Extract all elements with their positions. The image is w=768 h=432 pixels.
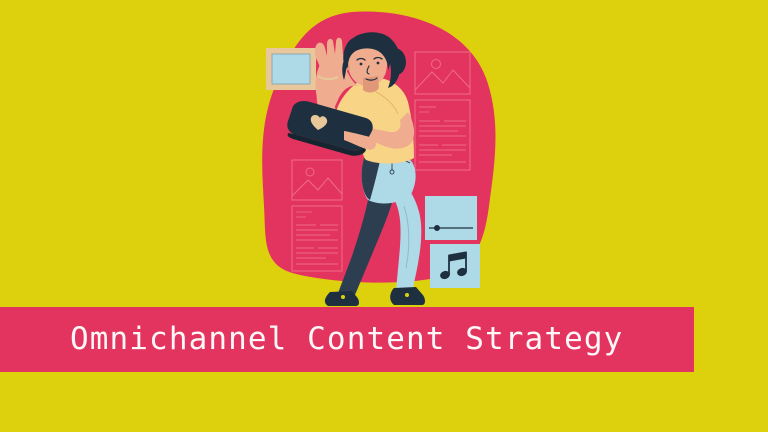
audio-slider-card [425,196,477,240]
poster-title: Omnichannel Content Strategy [70,324,623,355]
music-note-card [430,244,480,288]
photo-frame-card [266,48,316,90]
poster-canvas: Omnichannel Content Strategy [0,0,768,432]
title-banner: Omnichannel Content Strategy [0,307,694,372]
